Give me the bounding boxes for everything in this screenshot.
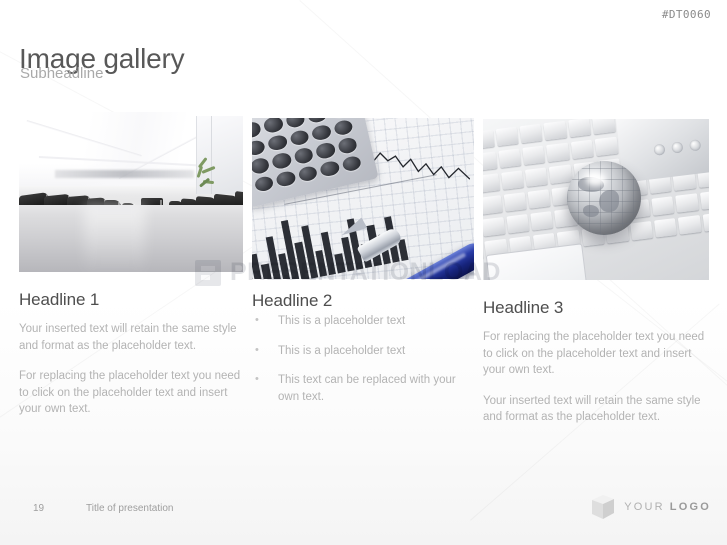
slide-canvas: #DT0060 Image gallery Subheadline bbox=[0, 0, 727, 545]
cube-logo-icon bbox=[591, 494, 615, 520]
column-3-paragraph-2: Your inserted text will retain the same … bbox=[483, 393, 709, 426]
page-subtitle: Subheadline bbox=[20, 65, 103, 82]
gallery-column-2: Headline 2 This is a placeholder text Th… bbox=[252, 112, 474, 418]
column-headline-3: Headline 3 bbox=[483, 298, 709, 318]
column-body-1: Your inserted text will retain the same … bbox=[19, 321, 243, 418]
column-body-3: For replacing the placeholder text you n… bbox=[483, 329, 709, 426]
image-placeholder-1[interactable] bbox=[19, 112, 243, 272]
column-headline-2: Headline 2 bbox=[252, 291, 474, 311]
calculator-chart-pen-photo bbox=[252, 118, 474, 279]
slide-code-label: #DT0060 bbox=[662, 8, 711, 21]
list-item: This is a placeholder text bbox=[252, 313, 474, 330]
logo-word-your: YOUR bbox=[624, 501, 665, 513]
brand-logo: YOUR LOGO bbox=[591, 494, 711, 520]
globe-graphic bbox=[567, 161, 641, 235]
conference-room-photo bbox=[19, 112, 243, 272]
logo-text: YOUR LOGO bbox=[624, 501, 711, 513]
image-placeholder-2[interactable] bbox=[252, 118, 474, 279]
list-item: This text can be replaced with your own … bbox=[252, 372, 474, 405]
gallery-columns: Headline 1 Your inserted text will retai… bbox=[0, 0, 727, 545]
gallery-column-1: Headline 1 Your inserted text will retai… bbox=[19, 112, 243, 432]
gallery-column-3: Headline 3 For replacing the placeholder… bbox=[483, 112, 709, 440]
column-3-paragraph-1: For replacing the placeholder text you n… bbox=[483, 329, 709, 379]
column-1-paragraph-2: For replacing the placeholder text you n… bbox=[19, 368, 243, 418]
column-2-bullet-list: This is a placeholder text This is a pla… bbox=[252, 313, 474, 405]
list-item: This is a placeholder text bbox=[252, 343, 474, 360]
logo-word-logo: LOGO bbox=[670, 501, 711, 513]
column-1-paragraph-1: Your inserted text will retain the same … bbox=[19, 321, 243, 354]
column-headline-1: Headline 1 bbox=[19, 290, 243, 310]
image-placeholder-3[interactable] bbox=[483, 119, 709, 280]
footer-page-number: 19 bbox=[33, 503, 44, 514]
globe-on-keyboard-photo bbox=[483, 119, 709, 280]
slide-footer: 19 Title of presentation YOUR LOGO bbox=[0, 477, 727, 545]
footer-presentation-title: Title of presentation bbox=[86, 503, 173, 514]
